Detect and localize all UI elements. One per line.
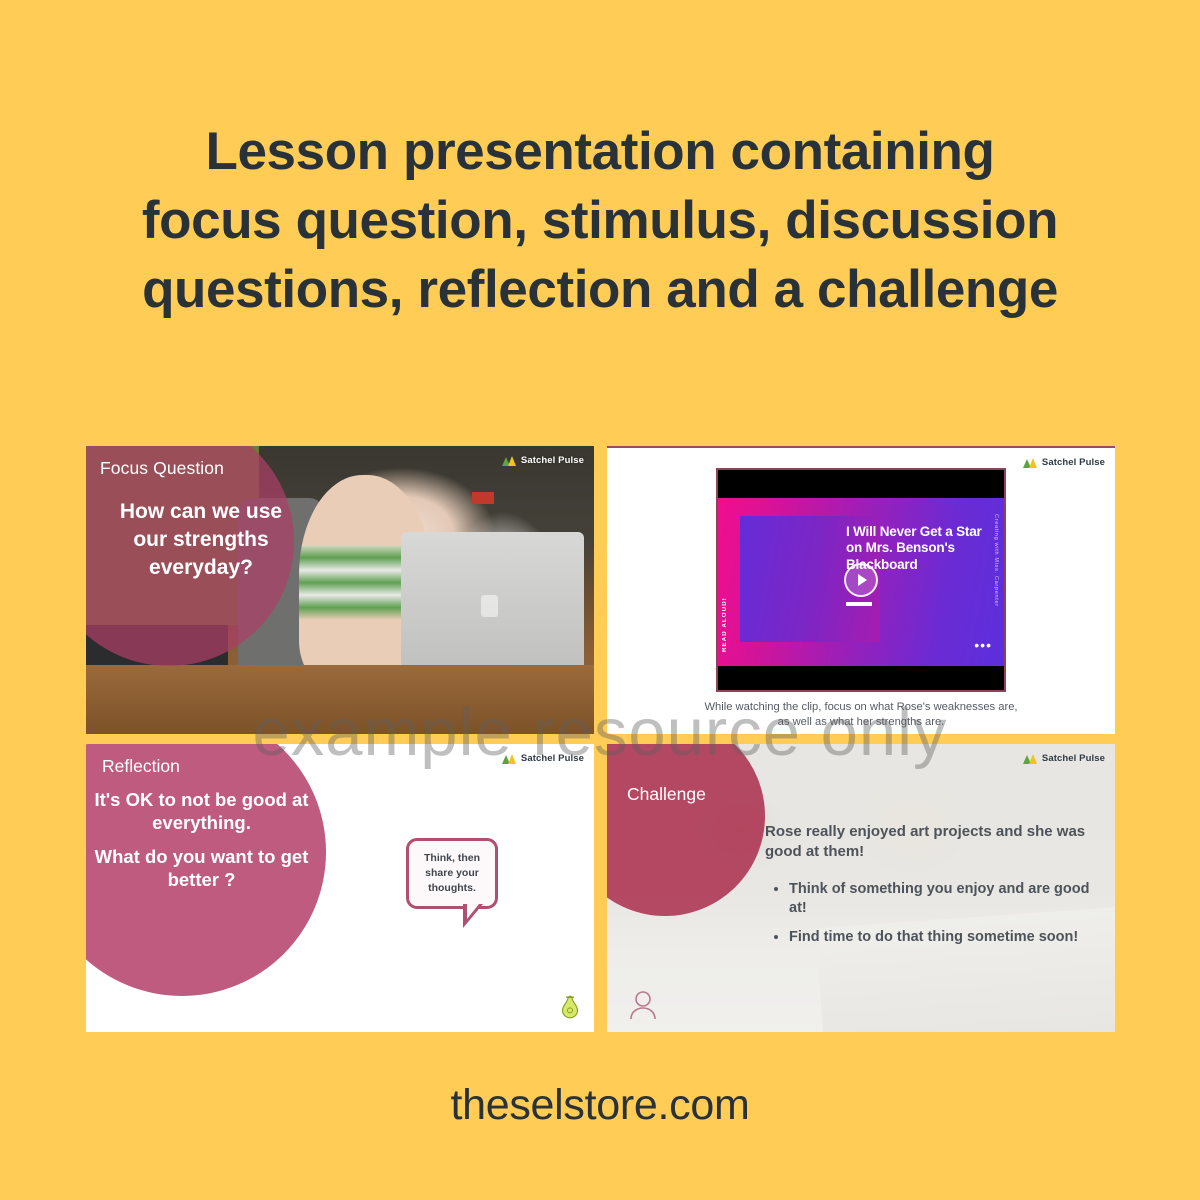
page-title-line-2: focus question, stimulus, discussion (60, 187, 1140, 256)
brand-name: Satchel Pulse (1042, 457, 1105, 468)
mountain-icon (502, 456, 517, 466)
slide-grid: Focus Question How can we use our streng… (86, 446, 1115, 1032)
page-title: Lesson presentation containing focus que… (0, 118, 1200, 325)
mountain-icon (1023, 754, 1038, 764)
video-read-aloud-badge: READ ALOUD! (722, 597, 728, 652)
photo-desk (86, 665, 594, 734)
page-title-line-3: questions, reflection and a challenge (60, 256, 1140, 325)
mountain-icon (502, 754, 517, 764)
slide-kicker-reflection: Reflection (102, 756, 180, 777)
list-item: Find time to do that thing sometime soon… (789, 928, 1101, 947)
satchel-pulse-logo: Satchel Pulse (1023, 753, 1105, 764)
stimulus-caption-line-1: While watching the clip, focus on what R… (631, 700, 1091, 715)
lightbulb-icon (560, 994, 580, 1020)
video-title-rule (846, 602, 872, 606)
reflection-statement: It's OK to not be good at everything. (94, 788, 309, 835)
person-icon (629, 990, 657, 1020)
satchel-pulse-logo: Satchel Pulse (502, 455, 584, 466)
satchel-pulse-logo: Satchel Pulse (1023, 457, 1105, 468)
reflection-body: It's OK to not be good at everything. Wh… (94, 788, 309, 891)
stimulus-caption-line-2: as well as what her strengths are. (631, 715, 1091, 730)
challenge-bullet-list: Think of something you enjoy and are goo… (765, 880, 1101, 957)
video-channel-label: Creating with Miss. Carpenter (993, 514, 999, 607)
slide-stimulus[interactable]: Satchel Pulse I Will Never Get a Star on… (607, 446, 1115, 734)
slide-focus-question[interactable]: Focus Question How can we use our streng… (86, 446, 594, 734)
list-item: Think of something you enjoy and are goo… (789, 880, 1101, 918)
video-player[interactable]: I Will Never Get a Star on Mrs. Benson's… (716, 468, 1006, 692)
stimulus-caption: While watching the clip, focus on what R… (631, 700, 1091, 731)
slide-challenge[interactable]: Satchel Pulse Challenge Rose really enjo… (607, 744, 1115, 1032)
brand-name: Satchel Pulse (1042, 753, 1105, 764)
ellipsis-icon[interactable]: ••• (974, 638, 992, 652)
brand-name: Satchel Pulse (521, 455, 584, 466)
reflection-question: What do you want to get better ? (94, 845, 309, 892)
challenge-lead-text: Rose really enjoyed art projects and she… (765, 822, 1101, 861)
slide-kicker-challenge: Challenge (627, 784, 706, 805)
page-title-line-1: Lesson presentation containing (60, 118, 1140, 187)
brand-name: Satchel Pulse (521, 753, 584, 764)
satchel-pulse-logo: Satchel Pulse (502, 753, 584, 764)
footer-url: theselstore.com (0, 1081, 1200, 1130)
mountain-icon (1023, 458, 1038, 468)
photo-exit-sign (472, 492, 494, 504)
play-icon[interactable] (844, 563, 878, 597)
slide-reflection[interactable]: Satchel Pulse Reflection It's OK to not … (86, 744, 594, 1032)
speech-bubble: Think, then share your thoughts. (406, 838, 498, 909)
slide-kicker-focus-question: Focus Question (100, 458, 224, 479)
focus-question-text: How can we use our strengths everyday? (106, 498, 296, 582)
